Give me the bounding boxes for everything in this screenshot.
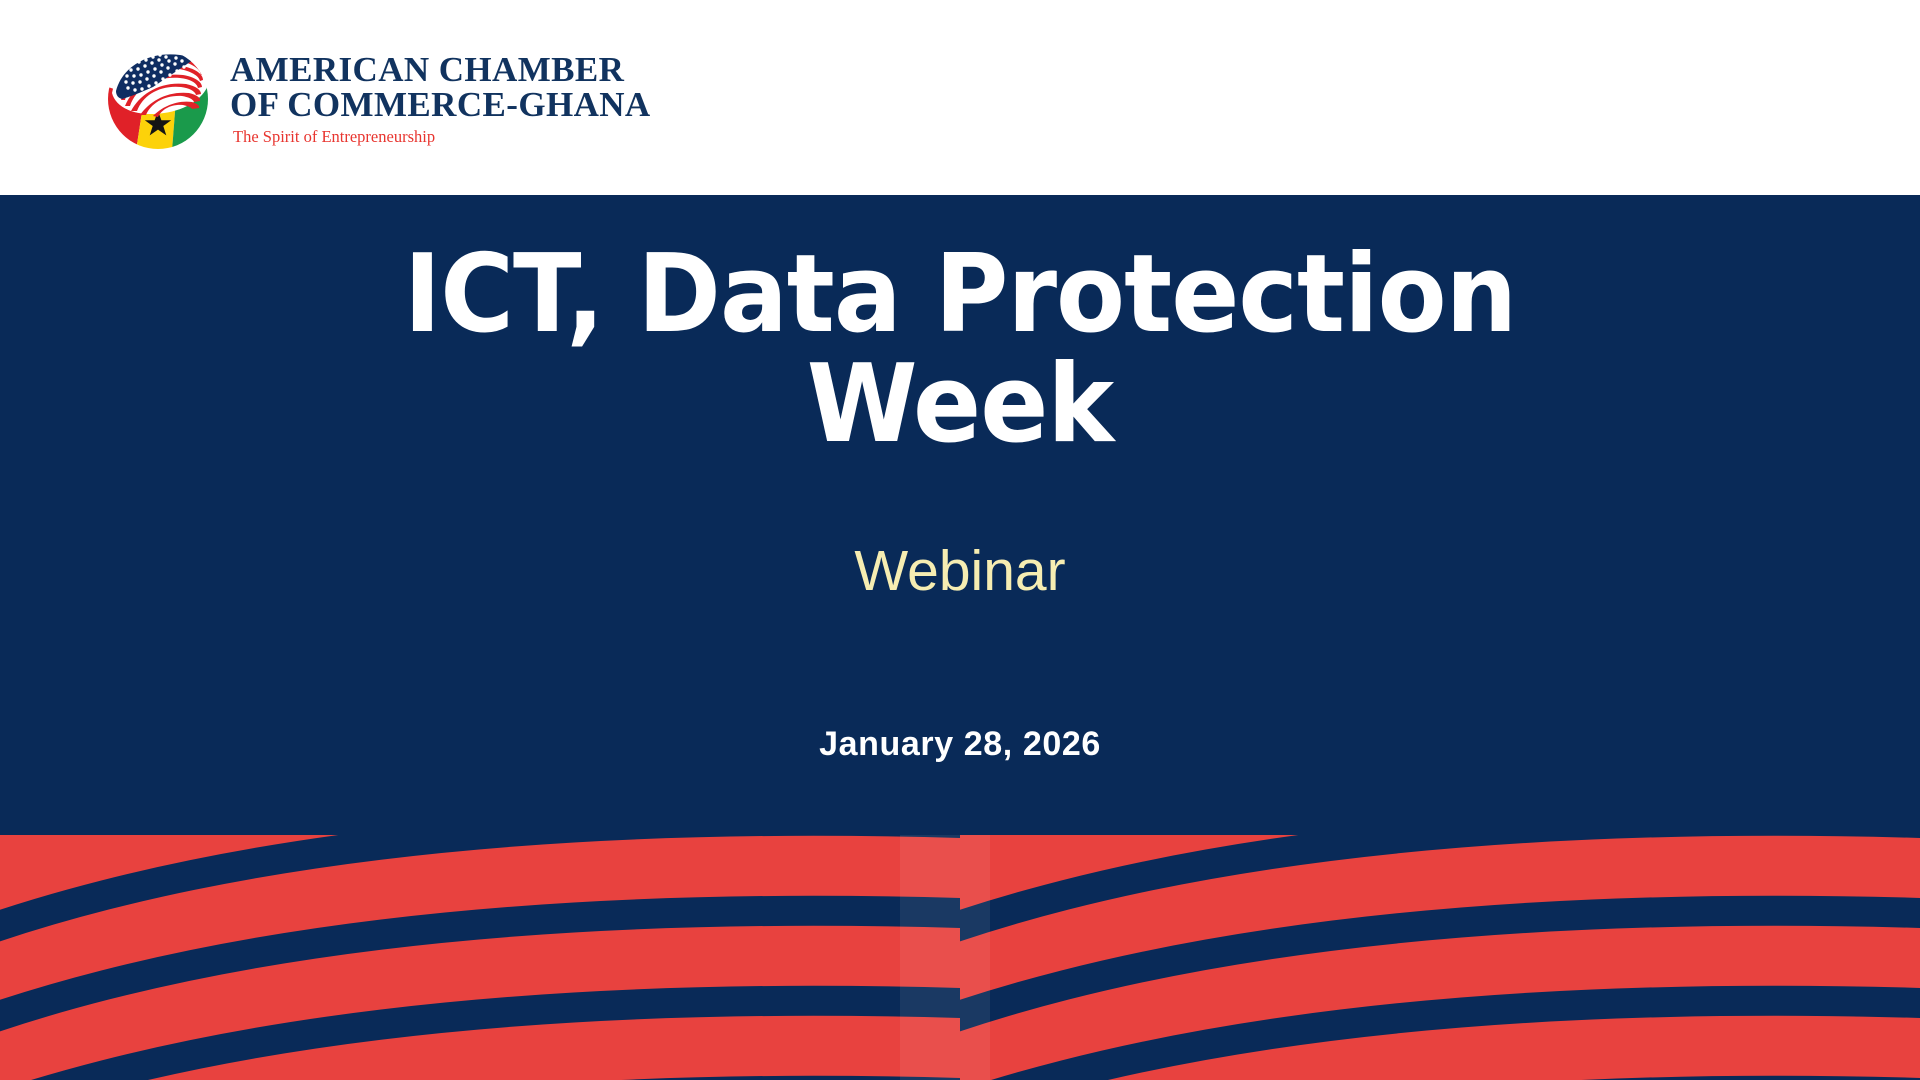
arc-stripe-motif-left (0, 835, 960, 1080)
event-date: January 28, 2026 (0, 725, 1920, 764)
logo-line-2: OF COMMERCE-GHANA (230, 87, 651, 122)
logo-line-1: AMERICAN CHAMBER (230, 52, 651, 87)
title-line-1: ICT, Data Protection (67, 240, 1853, 350)
presentation-slide: AMERICAN CHAMBER OF COMMERCE-GHANA The S… (0, 0, 1920, 1080)
logo-tagline: The Spirit of Entrepreneurship (233, 129, 651, 146)
slide-body: ICT, Data Protection Week Webinar Januar… (0, 195, 1920, 835)
decorative-arc-stripe-band (0, 835, 1920, 1080)
page-title: ICT, Data Protection Week (67, 240, 1853, 460)
amcham-ghana-circular-flag-logo (106, 47, 210, 151)
header-band: AMERICAN CHAMBER OF COMMERCE-GHANA The S… (0, 0, 1920, 195)
organization-logo: AMERICAN CHAMBER OF COMMERCE-GHANA The S… (106, 36, 651, 161)
subtitle: Webinar (0, 540, 1920, 603)
arc-stripe-motif-right (960, 835, 1920, 1080)
title-line-2: Week (67, 350, 1853, 460)
logo-wordmark: AMERICAN CHAMBER OF COMMERCE-GHANA The S… (230, 52, 651, 146)
